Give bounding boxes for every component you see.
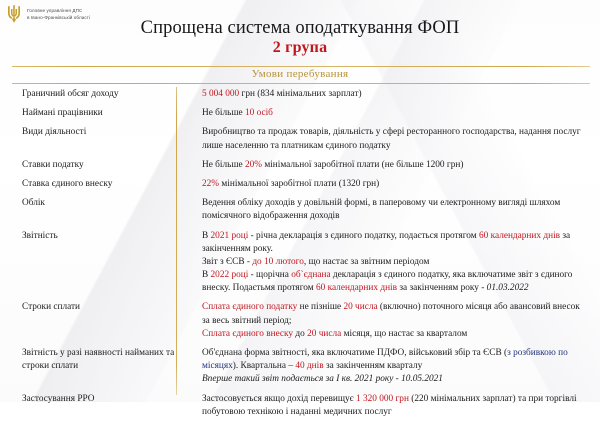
row-label: Види діяльності [12,125,192,140]
table-row: Ставка єдиного внеску22% мінімальної зар… [12,177,590,192]
value-fragment: 22% [202,179,219,189]
row-value: 22% мінімальної заробітної плати (1320 г… [192,177,590,192]
page-title: Спрощена система оподаткування ФОП [0,19,600,38]
row-value: Виробництво та продаж товарів, діяльніст… [192,125,590,153]
row-value: Об'єднана форма звітності, яка включатим… [192,346,590,388]
value-fragment: 2022 році [211,270,249,280]
row-label: Звітність у разі наявності найманих та с… [12,346,192,374]
table-row: Звітність у разі наявності найманих та с… [12,346,590,388]
row-value: 5 004 000 грн (834 мінімальних зарплат) [192,87,590,102]
row-label: Строки сплати [12,300,192,315]
table-row: Ставки податкуНе більше 20% мінімальної … [12,158,590,173]
row-label: Ставка єдиного внеску [12,177,192,192]
value-fragment: місяця, що настає за кварталом [341,329,467,339]
value-fragment: 10 осіб [245,108,273,118]
row-value: Не більше 10 осіб [192,106,590,121]
table-row: Строки сплатиСплата єдиного податку не п… [12,300,590,342]
value-fragment: грн (834 мінімальних зарплат) [239,89,361,99]
value-fragment: Не більше [202,108,245,118]
row-label: Застосування РРО [12,392,192,407]
divider-bottom [12,83,590,84]
row-value: Ведення обліку доходів у довільній формі… [192,196,590,224]
row-label: Наймані працівники [12,106,192,121]
value-fragment: Сплата єдиного внеску [202,329,293,339]
value-fragment: , що настає за звітним періодом [304,257,429,267]
value-fragment: 60 календарних днів [316,283,397,293]
row-value: В 2021 році - річна декларація з єдиного… [192,229,590,297]
slide-page: Головне управління ДПС в Івано-Франківсь… [0,0,600,402]
org-line-1: Головне управління ДПС [27,7,90,14]
value-fragment: 20 числа [343,302,377,312]
value-fragment: Не більше [202,160,245,170]
value-fragment: 40 днів [295,361,323,371]
value-fragment: 20% [245,160,262,170]
table-row: Види діяльностіВиробництво та продаж тов… [12,125,590,153]
value-fragment: до [293,329,307,339]
value-fragment: 2021 році [211,231,249,241]
row-value: Сплата єдиного податку не пізніше 20 чис… [192,300,590,342]
value-fragment: мінімальної заробітної плати (1320 грн) [219,179,379,189]
value-fragment: - річна декларація з єдиного податку, по… [248,231,479,241]
value-fragment: до 10 лютого [252,257,304,267]
page-subtitle: 2 група [0,39,600,57]
value-fragment: 60 календарних днів [479,231,560,241]
table-row: ЗвітністьВ 2021 році - річна декларація … [12,229,590,297]
value-fragment: не пізніше [297,302,343,312]
table-row: Наймані працівникиНе більше 10 осіб [12,106,590,121]
value-fragment: за закінченням кварталу [324,361,423,371]
value-fragment: за закінченням року - [397,283,487,293]
value-fragment: В [202,231,211,241]
value-fragment: 5 004 000 [202,89,239,99]
conditions-table: Граничний обсяг доходу5 004 000 грн (834… [12,87,590,424]
row-value: Не більше 20% мінімальної заробітної пла… [192,158,590,173]
value-fragment: ). Квартальна – [233,361,296,371]
value-fragment: мінімальної заробітної плати (не більше … [262,160,463,170]
row-label: Граничний обсяг доходу [12,87,192,102]
row-label: Ставки податку [12,158,192,173]
value-fragment: 01.03.2022 [487,283,529,293]
value-fragment: В [202,270,211,280]
value-fragment: 1 320 000 грн [356,394,409,404]
row-value: Застосовується якщо дохід перевищує 1 32… [192,392,590,420]
value-fragment: Застосовується якщо дохід перевищує [202,394,356,404]
row-label: Звітність [12,229,192,244]
value-fragment: Ведення обліку доходів у довільній формі… [202,198,560,221]
value-fragment: Вперше такий звіт подається за I кв. 202… [202,374,443,384]
divider-top [12,66,590,67]
value-fragment: Звіт з ЄСВ - [202,257,252,267]
row-label: Облік [12,196,192,211]
value-fragment: Сплата єдиного податку [202,302,297,312]
value-fragment: - щорічна [248,270,291,280]
value-fragment: 20 числа [307,329,341,339]
table-row: ОблікВедення обліку доходів у довільній … [12,196,590,224]
section-heading: Умови перебування [0,68,600,80]
table-row: Застосування РРОЗастосовується якщо дохі… [12,392,590,420]
value-fragment: Виробництво та продаж товарів, діяльніст… [202,127,581,150]
table-row: Граничний обсяг доходу5 004 000 грн (834… [12,87,590,102]
value-fragment: Об'єднана форма звітності, яка включатим… [202,348,507,358]
value-fragment: об`єднана [291,270,330,280]
